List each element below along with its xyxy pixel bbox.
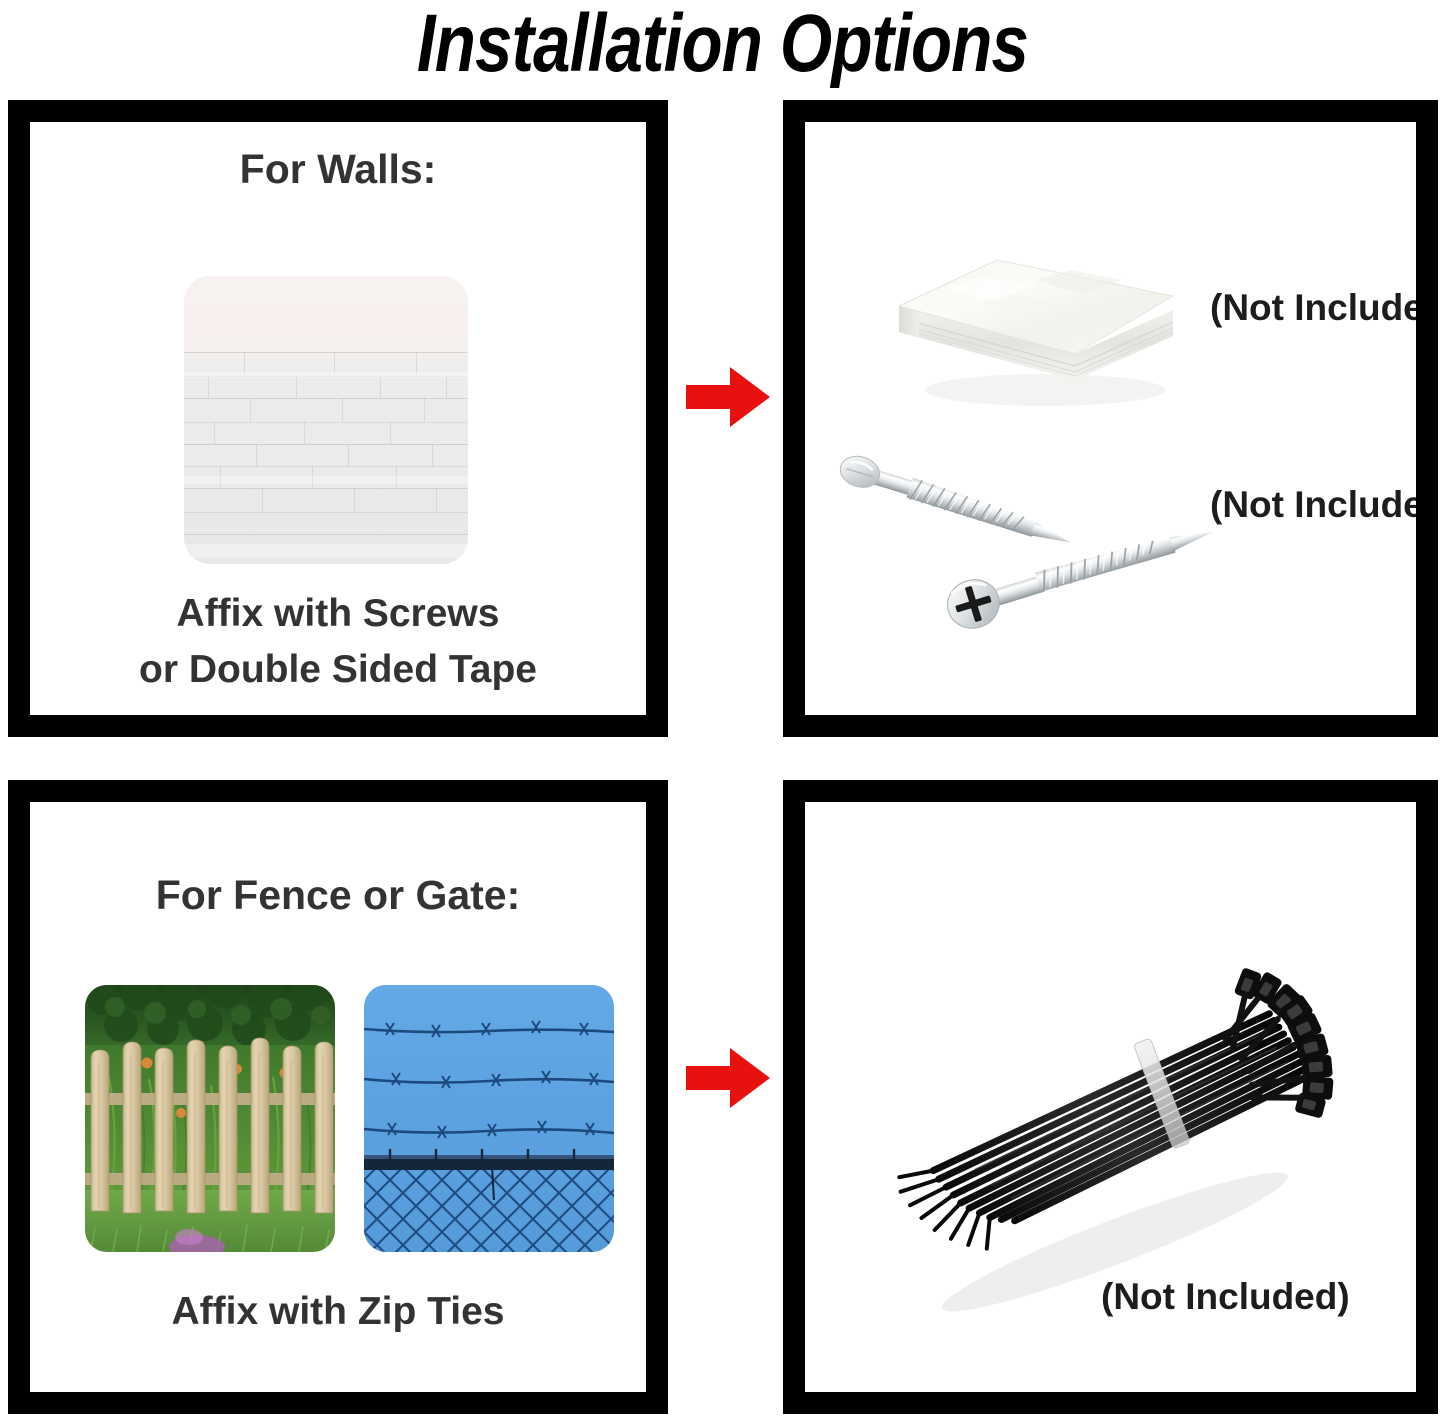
wooden-picket-fence-photo	[85, 985, 335, 1252]
panel-for-fence-or-gate: For Fence or Gate:	[8, 780, 668, 1414]
red-arrow-right-icon	[684, 365, 772, 429]
panel-wall-hardware-content: (Not Included)	[805, 122, 1416, 715]
panel-for-fence-or-gate-content: For Fence or Gate:	[30, 802, 646, 1392]
fence-caption: Affix with Zip Ties	[30, 1290, 646, 1334]
tape-not-included-label: (Not Included)	[1210, 287, 1416, 329]
double-sided-tape-stack-image	[885, 240, 1185, 420]
walls-heading: For Walls:	[30, 146, 646, 193]
panel-wall-hardware: (Not Included)	[783, 100, 1438, 737]
panel-zip-ties-content: (Not Included)	[805, 802, 1416, 1392]
silver-wood-screws-image	[835, 442, 1235, 642]
page-title: Installation Options	[130, 0, 1315, 92]
panel-for-walls-content: For Walls:	[30, 122, 646, 715]
panel-for-walls: For Walls:	[8, 100, 668, 737]
panel-zip-ties: (Not Included)	[783, 780, 1438, 1414]
fence-heading: For Fence or Gate:	[30, 872, 646, 919]
screws-not-included-label: (Not Included)	[1210, 484, 1416, 526]
red-arrow-right-icon	[684, 1046, 772, 1110]
walls-caption-line1: Affix with Screws	[30, 592, 646, 636]
ziptie-not-included-label: (Not Included)	[1101, 1276, 1350, 1318]
chain-link-barbed-wire-fence-photo	[364, 985, 614, 1252]
walls-caption-line2: or Double Sided Tape	[30, 648, 646, 692]
black-zip-ties-bundle-image	[865, 912, 1385, 1312]
white-brick-wall-image	[184, 276, 468, 564]
